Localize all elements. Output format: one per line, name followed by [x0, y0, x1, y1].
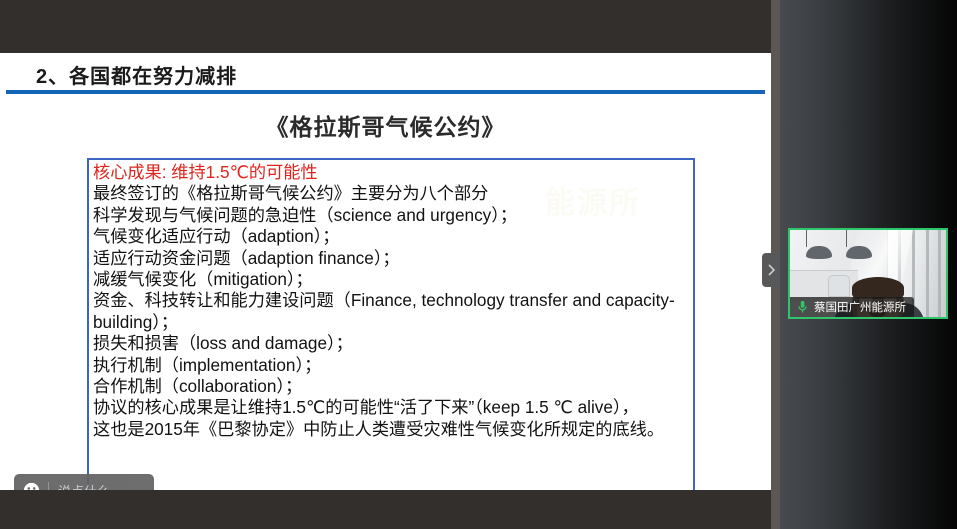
slide-content-box: 核心成果: 维持1.5℃的可能性 最终签订的《格拉斯哥气候公约》主要分为八个部分…	[87, 158, 695, 490]
content-line: 科学发现与气候问题的急迫性（science and urgency）；	[93, 205, 697, 226]
content-line: 这也是2015年《巴黎协定》中防止人类遭受灾难性气候变化所规定的底线。	[93, 419, 697, 440]
participant-name: 蔡国田广州能源所	[814, 299, 906, 315]
chair	[828, 275, 850, 297]
content-line: 合作机制（collaboration）；	[93, 376, 697, 397]
slide-content-lines: 核心成果: 维持1.5℃的可能性 最终签订的《格拉斯哥气候公约》主要分为八个部分…	[93, 162, 697, 440]
participant-name-plate: 蔡国田广州能源所	[790, 297, 914, 317]
content-line: 适应行动资金问题（adaption finance）；	[93, 248, 697, 269]
content-line: 最终签订的《格拉斯哥气候公约》主要分为八个部分	[93, 183, 697, 204]
collapse-gallery-button[interactable]	[762, 253, 780, 287]
smiley-icon[interactable]	[14, 482, 48, 490]
comment-bar-divider	[48, 482, 49, 490]
slide-header-rule	[6, 90, 765, 94]
letterbox-top	[0, 0, 771, 53]
meeting-screen: 2、各国都在努力减排 《格拉斯哥气候公约》 能源所 核心成果: 维持1.5℃的可…	[0, 0, 957, 529]
content-line: 协议的核心成果是让维持1.5℃的可能性“活了下来”（keep 1.5 ℃ ali…	[93, 397, 697, 418]
content-line: 减缓气候变化（mitigation）；	[93, 269, 697, 290]
content-line: 资金、科技转让和能力建设问题（Finance, technology trans…	[93, 290, 697, 333]
comment-input-placeholder[interactable]: 说点什么	[58, 481, 110, 490]
slide-section-header: 2、各国都在努力减排	[36, 60, 237, 89]
comment-input-bar[interactable]: 说点什么	[14, 474, 154, 490]
letterbox-bottom	[0, 490, 771, 529]
chevron-right-icon	[767, 263, 776, 277]
video-tile-self[interactable]: 蔡国田广州能源所	[788, 228, 948, 319]
microphone-icon[interactable]	[795, 300, 809, 314]
slide-title: 《格拉斯哥气候公约》	[0, 108, 771, 142]
shared-slide: 2、各国都在努力减排 《格拉斯哥气候公约》 能源所 核心成果: 维持1.5℃的可…	[0, 53, 771, 490]
content-line: 气候变化适应行动（adaption）；	[93, 226, 697, 247]
content-line: 执行机制（implementation）；	[93, 355, 697, 376]
content-line: 损失和损害（loss and damage）；	[93, 333, 697, 354]
content-line: 核心成果: 维持1.5℃的可能性	[93, 162, 697, 183]
